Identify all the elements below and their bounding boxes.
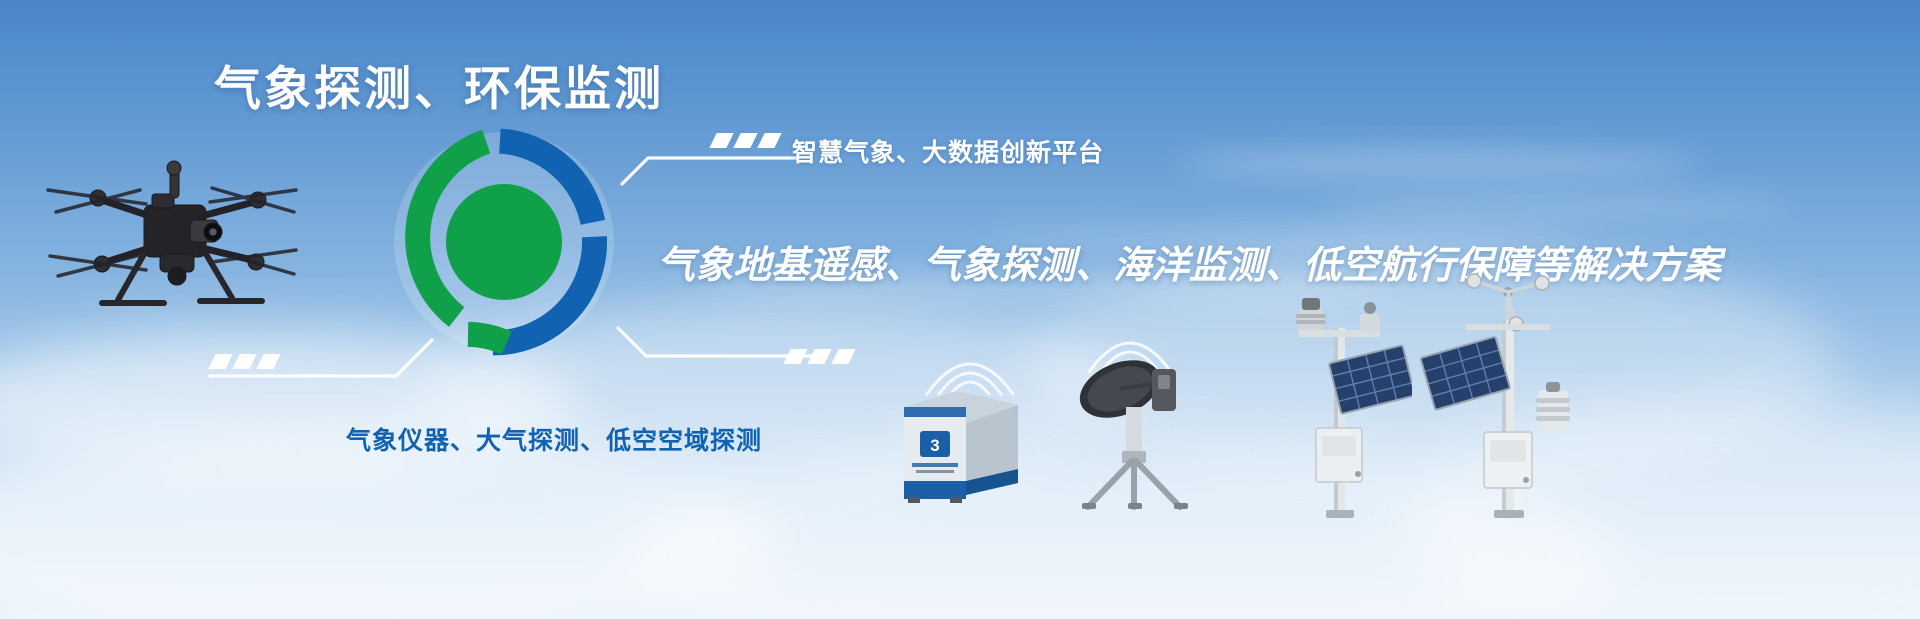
callout-top-text: 智慧气象、大数据创新平台 — [792, 133, 1104, 169]
donut-ring-graphic — [390, 128, 618, 356]
lidar-instrument-icon: 3 — [890, 385, 1030, 505]
satellite-dish-icon — [1062, 355, 1212, 515]
drone-icon — [40, 150, 300, 350]
slash-accent-icon — [787, 349, 852, 364]
weather-station-icon — [1272, 288, 1412, 518]
slash-accent-icon — [212, 354, 277, 369]
anemometer-icon — [1406, 272, 1576, 518]
cloud-streak — [1320, 196, 1790, 216]
page-title: 气象探测、环保监测 — [214, 50, 664, 119]
callout-bottom-text: 气象仪器、大气探测、低空空域探测 — [346, 421, 762, 457]
slash-accent-icon — [713, 133, 778, 148]
hero-banner: 智慧气象、大数据创新平台 气象探测、环保监测 气象地基遥感、气象探测、海洋监测、… — [0, 0, 1920, 619]
svg-text:3: 3 — [930, 436, 939, 455]
cloud-streak — [1180, 150, 1700, 176]
